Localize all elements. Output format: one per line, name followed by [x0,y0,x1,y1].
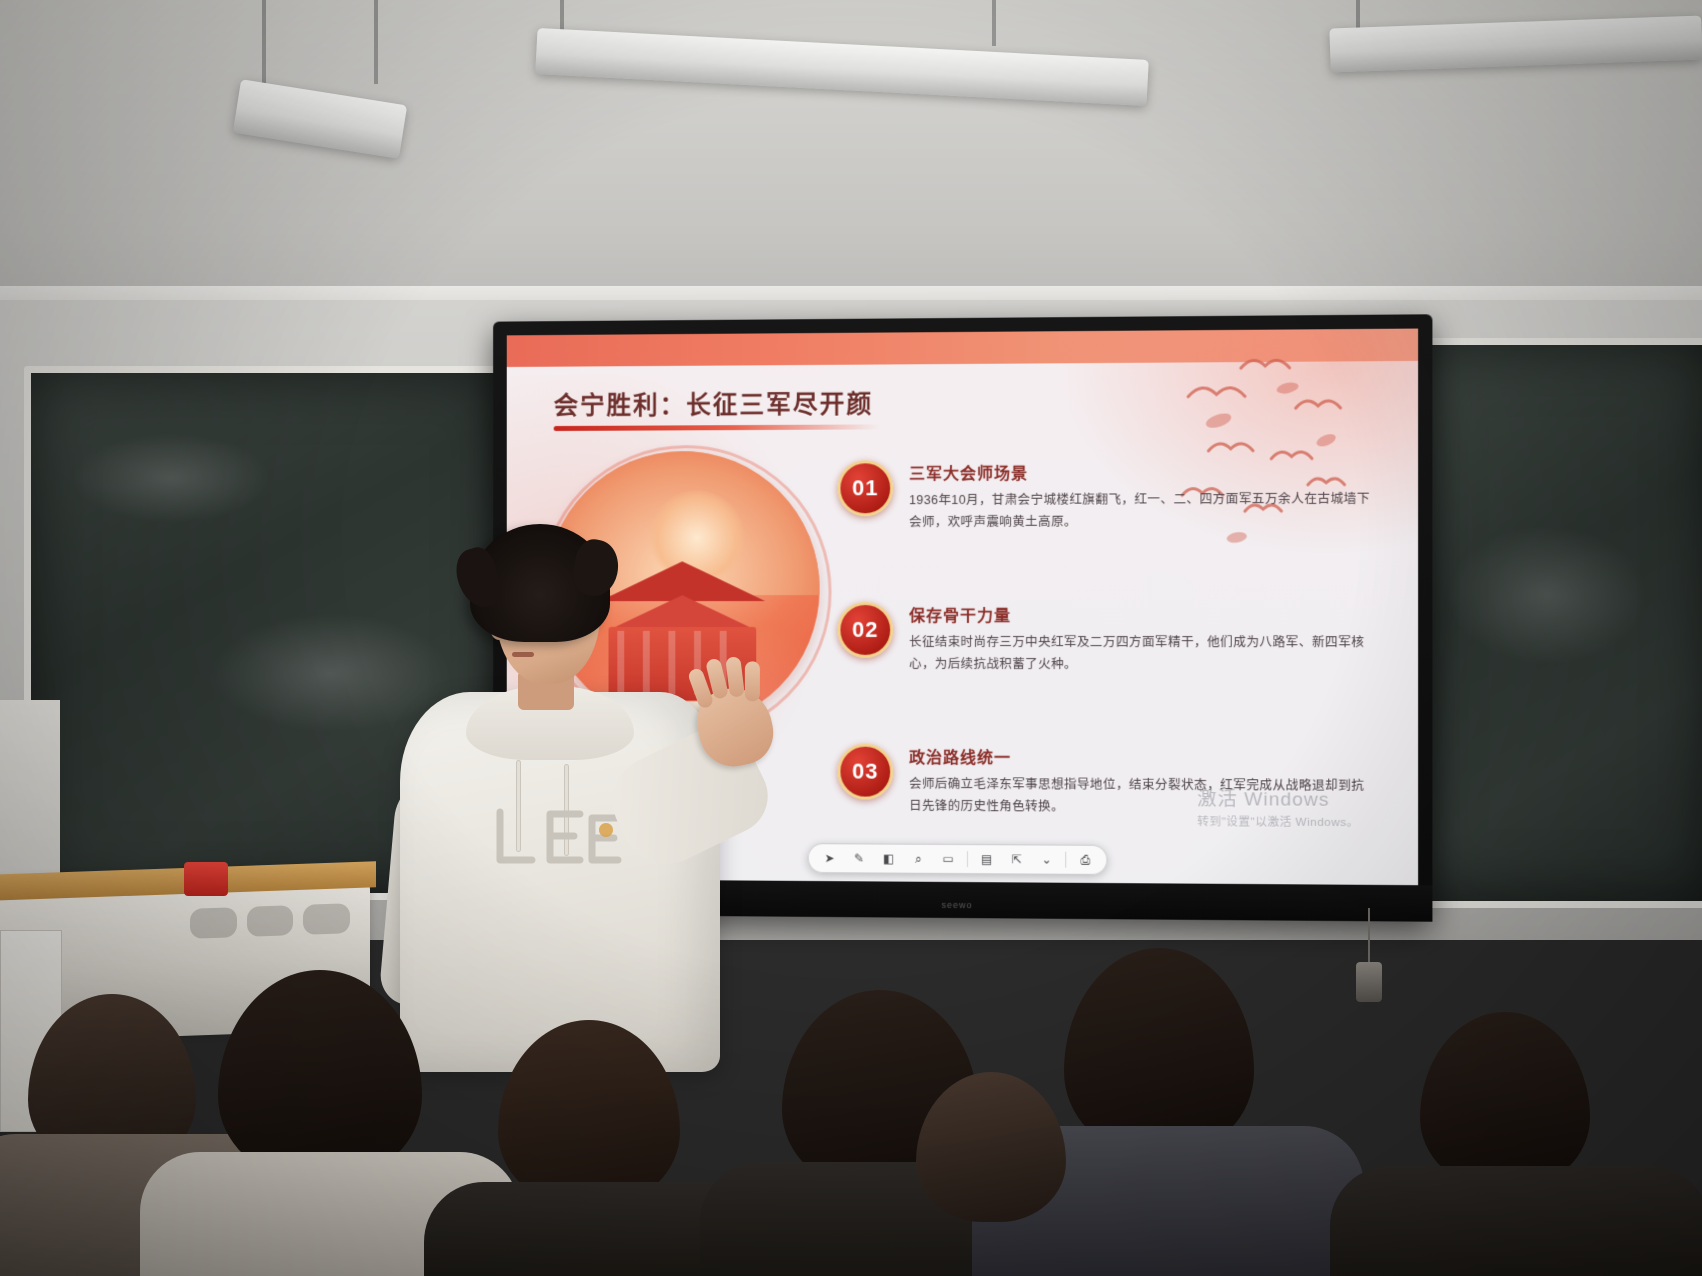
audience [0,976,1702,1276]
ceiling-light-fixture [1329,16,1702,73]
slide-title: 会宁胜利：长征三军尽开颜 [554,385,874,423]
item-heading: 政治路线统一 [909,744,1371,770]
red-cup [184,862,228,896]
toolbar-divider [967,851,968,867]
lee-logo-dot [599,823,613,837]
item-heading: 三军大会师场景 [909,458,1371,484]
screen-tool-icon[interactable]: ▤ [976,848,998,870]
watermark-line-2: 转到"设置"以激活 Windows。 [1197,813,1359,830]
finger [745,661,760,701]
light-rod [1356,0,1360,28]
audience-head [1420,1012,1590,1188]
audience-head [498,1020,680,1206]
light-rod [374,0,378,84]
magnify-tool-icon[interactable]: ⌕ [907,848,929,870]
hair [470,524,610,642]
slide-item-03[interactable]: 03 政治路线统一 会师后确立毛泽东军事思想指导地位，结束分裂状态，红军完成从战… [837,744,1371,746]
windows-activation-watermark: 激活 Windows 转到"设置"以激活 Windows。 [1197,784,1359,830]
spotlight-tool-icon[interactable]: ▭ [937,848,959,870]
ceiling-light-fixture [535,28,1149,106]
light-rod [992,0,996,46]
blackboard-right [1410,338,1702,908]
ceiling-light-fixture [233,79,407,159]
eraser-tool-icon[interactable]: ◧ [878,848,900,870]
exit-tool-icon[interactable]: ⎙ [1074,849,1096,871]
audience-shoulders [1330,1166,1702,1276]
item-number-badge: 02 [837,602,893,658]
lectern-slots [190,903,350,939]
lee-logo [488,804,624,876]
item-body: 长征结束时尚存三万中央红军及二万四方面军精干，他们成为八路军、新四军核心，为后续… [909,632,1371,676]
display-brand-label: seewo [942,900,973,910]
watermark-line-1: 激活 Windows [1197,784,1359,812]
ceiling [0,0,1702,330]
export-tool-icon[interactable]: ⇱ [1006,848,1028,870]
hanging-keys [1368,908,1370,964]
pen-tool-icon[interactable]: ✎ [848,847,870,869]
toolbar-divider [1065,852,1066,868]
item-number-badge: 01 [837,460,893,516]
item-body: 1936年10月，甘肃会宁城楼红旗翻飞，红一、二、四方面军五万余人在古城墙下会师… [909,489,1371,534]
audience-head [218,970,422,1180]
cursor-tool-icon[interactable]: ➤ [819,847,841,869]
slide-item-01[interactable]: 01 三军大会师场景 1936年10月，甘肃会宁城楼红旗翻飞，红一、二、四方面军… [837,458,1371,460]
more-tool-icon[interactable]: ⌄ [1035,848,1057,870]
mouth [512,652,534,657]
classroom-scene: 会宁胜利：长征三军尽开颜 [0,0,1702,1276]
item-number-badge: 03 [837,744,893,800]
audience-head [1064,948,1254,1154]
item-heading: 保存骨干力量 [909,602,1371,626]
annotation-toolbar[interactable]: ➤ ✎ ◧ ⌕ ▭ ▤ ⇱ ⌄ ⎙ [808,843,1108,875]
